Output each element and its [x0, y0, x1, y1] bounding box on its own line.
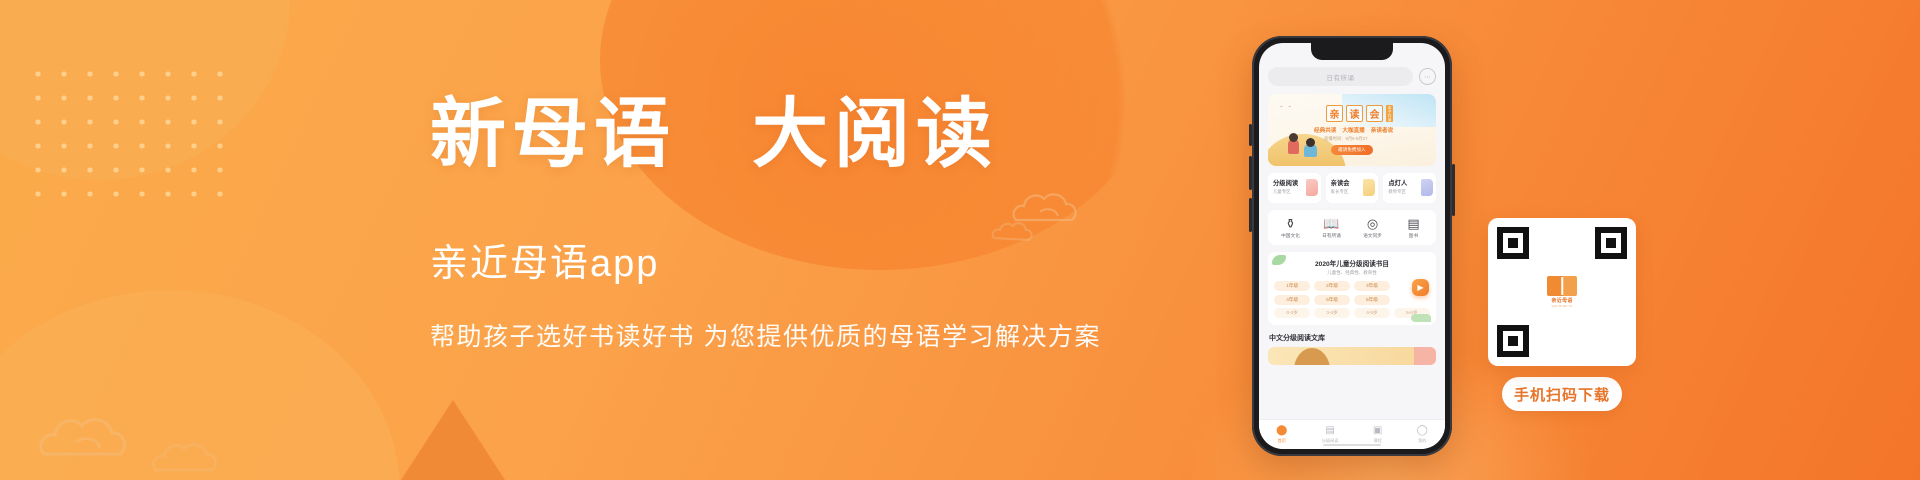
- tab-label: 首页: [1278, 438, 1286, 444]
- hero-date: 直播时间：9月6-9月27: [1324, 136, 1367, 142]
- books-icon: ▤: [1407, 217, 1419, 230]
- quick-link-sync-chinese[interactable]: ◎ 语文同步: [1356, 217, 1390, 239]
- quick-link-label: 语文同步: [1363, 233, 1382, 239]
- sync-icon: ◎: [1367, 217, 1378, 230]
- decor-blob-top-left: [0, 0, 290, 180]
- qr-download-block: 亲近母语 QIN JIN MU YU 手机扫码下载: [1488, 218, 1636, 411]
- grade-chip-5[interactable]: 5年级: [1314, 295, 1350, 305]
- quick-link-chinese-culture[interactable]: ⚱ 中国文化: [1274, 217, 1308, 239]
- hero-title-char-2: 读: [1346, 105, 1363, 122]
- grade-chip-1[interactable]: 1年级: [1274, 281, 1310, 291]
- library-accent-shape: [1414, 347, 1436, 365]
- grade-chip-4[interactable]: 4年级: [1274, 295, 1310, 305]
- tab-label: 我的: [1418, 438, 1426, 444]
- library-section-title: 中文分级阅读文库: [1268, 333, 1436, 343]
- age-chip-2[interactable]: 3-4岁: [1314, 308, 1350, 318]
- clipboard-icon: ▣: [1373, 426, 1382, 436]
- hero-side-strip: 亲子共读: [1386, 105, 1393, 122]
- decor-dot-grid: [25, 62, 225, 212]
- book-shape-icon: [1306, 179, 1318, 196]
- hero-title-char-1: 亲: [1326, 105, 1343, 122]
- qr-finder-bottom-left: [1497, 325, 1529, 357]
- quick-link-label: 图书: [1409, 233, 1418, 239]
- category-card-parent-club[interactable]: 亲读会 家长专区: [1326, 173, 1379, 203]
- phone-notch: [1311, 43, 1393, 60]
- headline-part-1: 新母语: [430, 93, 676, 177]
- booklist-chip-grid: 1年级 2年级 3年级 4年级 5年级 6年级 0-3岁 3-4岁 4-5岁 5…: [1274, 281, 1430, 318]
- hero-feature-2: 大咖直播: [1342, 126, 1364, 134]
- qr-finder-top-left: [1497, 227, 1529, 259]
- banner-copy: 新母语 大阅读 亲近母语app 帮助孩子选好书读好书 为您提供优质的母语学习解决…: [430, 96, 1190, 353]
- library-dome-shape: [1294, 348, 1330, 365]
- phone-mute-switch: [1249, 124, 1252, 146]
- grade-chip-6[interactable]: 6年级: [1354, 295, 1390, 305]
- decor-cloud-left2-icon: [150, 438, 236, 480]
- video-play-icon[interactable]: ▶: [1412, 279, 1429, 296]
- quick-link-label: 中国文化: [1281, 233, 1300, 239]
- category-card-teacher[interactable]: 点灯人 教师专区: [1383, 173, 1436, 203]
- phone-volume-down-button: [1249, 198, 1252, 232]
- quick-link-row: ⚱ 中国文化 📖 日有所诵 ◎ 语文同步 ▤ 图书: [1268, 210, 1436, 245]
- qr-code-image: 亲近母语 QIN JIN MU YU: [1497, 227, 1627, 357]
- book-shape-icon: [1363, 179, 1375, 196]
- decor-leaf2-icon: [1411, 314, 1431, 322]
- user-icon: ◯: [1417, 426, 1428, 436]
- open-book-icon: [1547, 276, 1577, 296]
- hero-child-figure-1: [1288, 139, 1299, 154]
- qr-finder-top-right: [1595, 227, 1627, 259]
- phone-power-button: [1452, 164, 1455, 216]
- grade-chip-3[interactable]: 3年级: [1354, 281, 1390, 291]
- book-open-icon: 📖: [1323, 217, 1339, 230]
- app-search-row: 日有所诵 ⋯: [1268, 67, 1436, 86]
- headline-part-2: 大阅读: [752, 93, 998, 177]
- home-indicator: [1323, 444, 1381, 447]
- page-title: 新母语 大阅读: [430, 96, 1190, 176]
- phone-volume-up-button: [1249, 156, 1252, 190]
- qr-center-logo: 亲近母语 QIN JIN MU YU: [1542, 272, 1582, 312]
- app-hero-banner[interactable]: ⌁ ⌁ 亲 读 会 亲子共读 经典共读 大咖直播 亲读者说 直播时间：9月6: [1268, 94, 1436, 166]
- promo-banner: 新母语 大阅读 亲近母语app 帮助孩子选好书读好书 为您提供优质的母语学习解决…: [0, 0, 1920, 480]
- category-card-graded-reading[interactable]: 分级阅读 儿童专区: [1268, 173, 1321, 203]
- qr-code-card: 亲近母语 QIN JIN MU YU: [1488, 218, 1636, 366]
- lantern-icon: ⚱: [1285, 217, 1296, 230]
- list-icon: ▤: [1325, 426, 1334, 436]
- hero-carousel-dots[interactable]: • • •: [1318, 148, 1329, 153]
- hero-title-row: 亲 读 会 亲子共读: [1326, 105, 1393, 122]
- tab-home[interactable]: ⬤ 首页: [1276, 426, 1287, 444]
- hero-birds-icon: ⌁ ⌁: [1280, 104, 1293, 110]
- home-icon: ⬤: [1276, 426, 1287, 436]
- search-placeholder: 日有所诵: [1327, 72, 1355, 82]
- tab-courses[interactable]: ▣ 课程: [1373, 426, 1382, 444]
- phone-mockup: 日有所诵 ⋯ ⌁ ⌁ 亲 读 会 亲子共读: [1252, 36, 1452, 456]
- app-name-subtitle: 亲近母语app: [430, 232, 1190, 287]
- search-input[interactable]: 日有所诵: [1268, 67, 1413, 86]
- hero-feature-3: 亲读者说: [1371, 126, 1393, 134]
- decor-cloud-left-icon: [36, 408, 156, 466]
- download-button[interactable]: 手机扫码下载: [1502, 377, 1622, 411]
- category-card-row: 分级阅读 儿童专区 亲读会 家长专区 点灯人 教师专区: [1268, 173, 1436, 203]
- book-shape-icon: [1421, 179, 1433, 196]
- age-chip-1[interactable]: 0-3岁: [1274, 308, 1310, 318]
- library-banner[interactable]: [1268, 347, 1436, 365]
- booklist-module: 2020年儿童分级阅读书目 儿童性、经典性、教育性 1年级 2年级 3年级 4年…: [1268, 252, 1436, 325]
- hero-feature-1: 经典共读: [1314, 126, 1336, 134]
- age-chip-3[interactable]: 4-5岁: [1354, 308, 1390, 318]
- phone-screen: 日有所诵 ⋯ ⌁ ⌁ 亲 读 会 亲子共读: [1259, 43, 1445, 449]
- hero-title-char-3: 会: [1366, 105, 1383, 122]
- hero-cta-button[interactable]: 邀请免费加入: [1331, 145, 1373, 155]
- hero-child-figure-2: [1304, 144, 1317, 157]
- decor-blob-bottom-left: [0, 290, 400, 480]
- booklist-title: 2020年儿童分级阅读书目: [1274, 258, 1430, 268]
- quick-link-label: 日有所诵: [1322, 233, 1341, 239]
- logo-subtitle: QIN JIN MU YU: [1552, 305, 1573, 308]
- bottom-tab-bar: ⬤ 首页 ▤ 分级阅读 ▣ 课程 ◯ 我的: [1259, 419, 1445, 449]
- banner-tagline: 帮助孩子选好书读好书 为您提供优质的母语学习解决方案: [430, 317, 1190, 353]
- logo-title: 亲近母语: [1551, 297, 1572, 304]
- quick-link-books[interactable]: ▤ 图书: [1397, 217, 1431, 239]
- tab-profile[interactable]: ◯ 我的: [1417, 426, 1428, 444]
- booklist-subtitle: 儿童性、经典性、教育性: [1274, 270, 1430, 276]
- tab-graded-reading[interactable]: ▤ 分级阅读: [1322, 426, 1339, 444]
- hero-feature-list: 经典共读 大咖直播 亲读者说: [1314, 126, 1393, 134]
- decor-triangle: [375, 400, 531, 480]
- message-icon[interactable]: ⋯: [1419, 68, 1436, 85]
- quick-link-daily-recite[interactable]: 📖 日有所诵: [1315, 217, 1349, 239]
- grade-chip-2[interactable]: 2年级: [1314, 281, 1350, 291]
